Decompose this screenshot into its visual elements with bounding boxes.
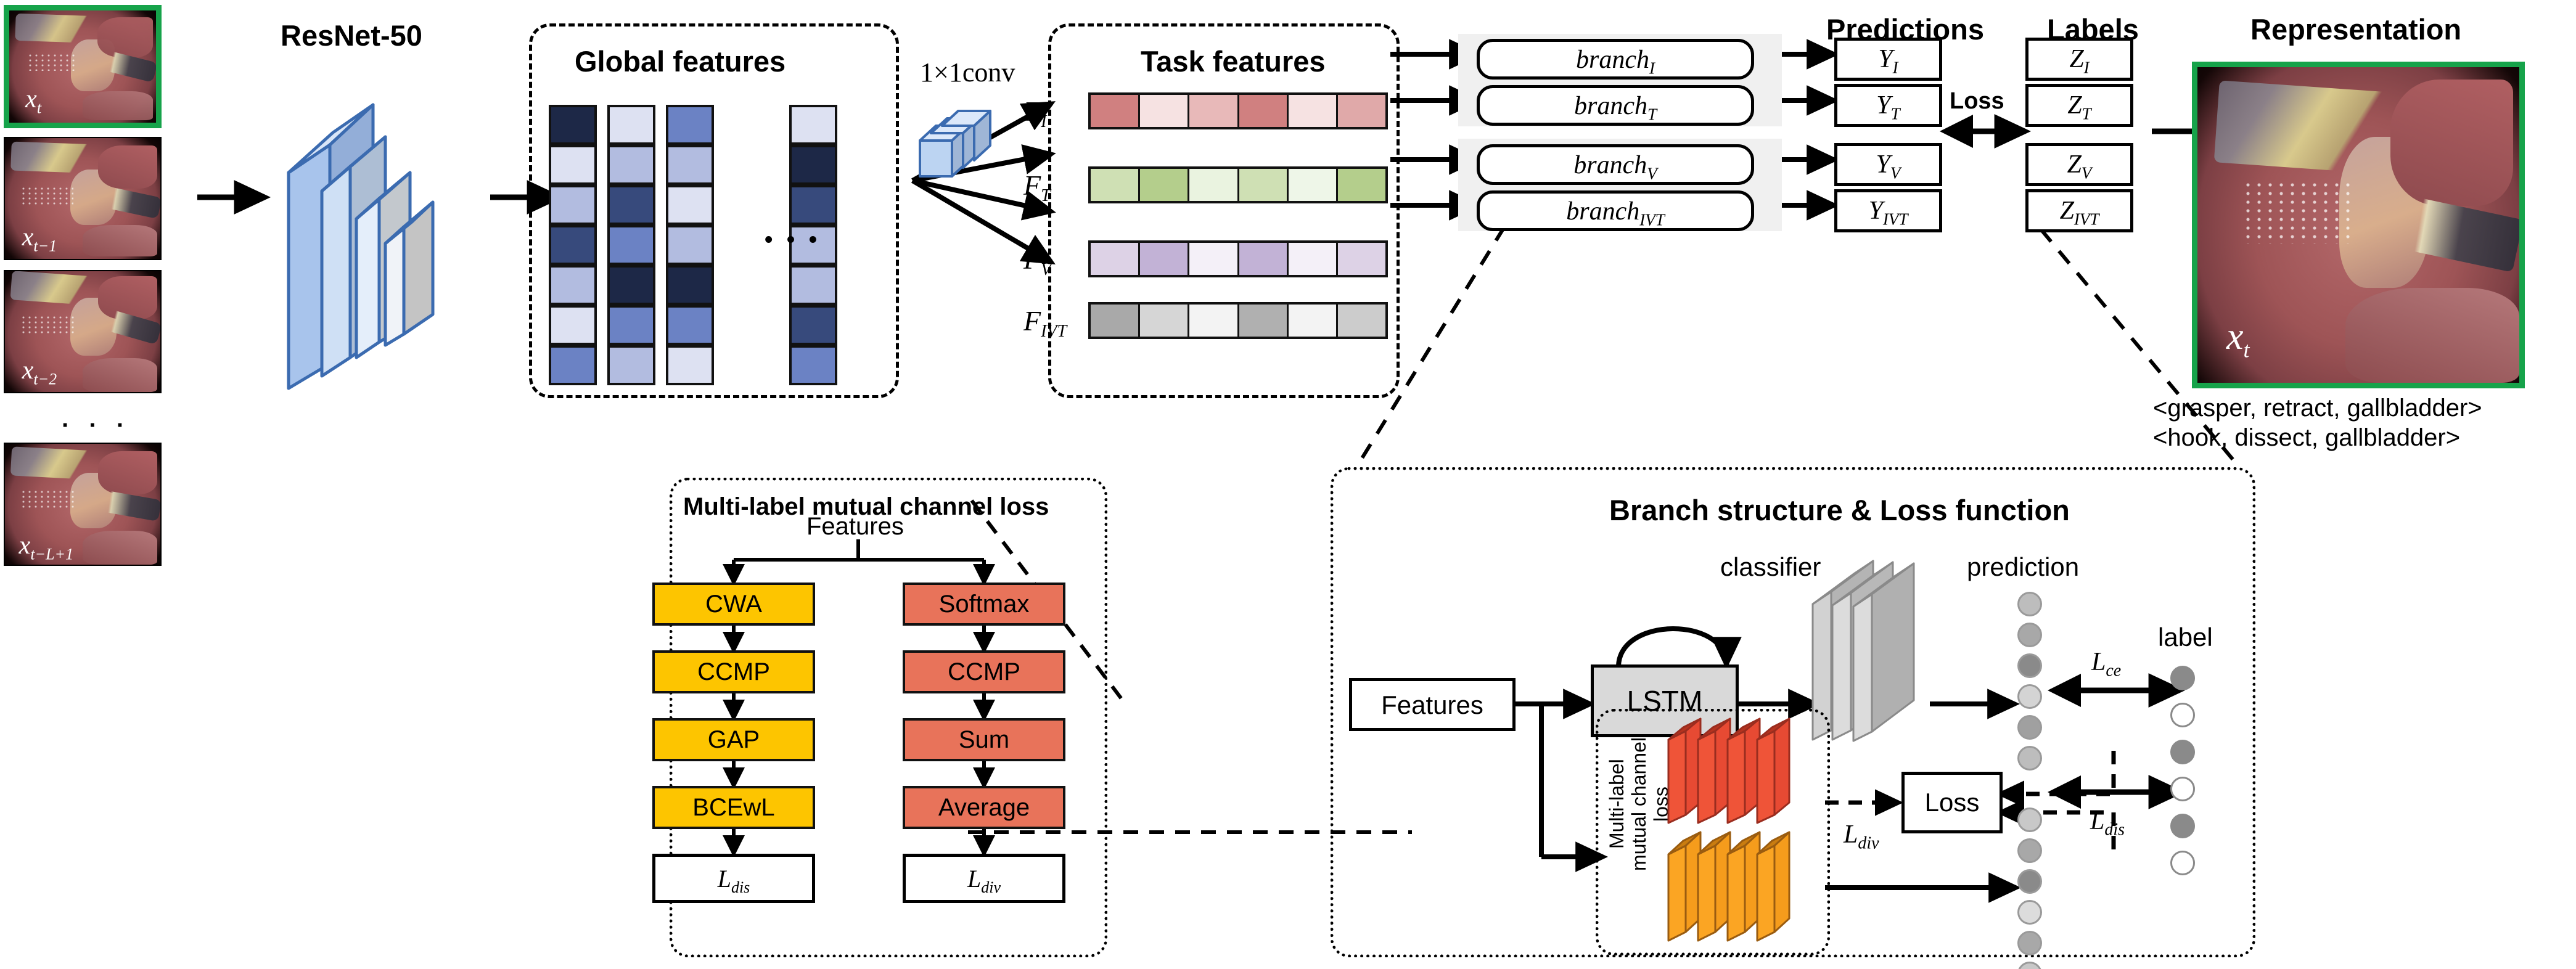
branch-box-v[interactable]: branchV	[1477, 144, 1754, 185]
mmc-inner-label: Multi-label mutual channel loss	[1606, 737, 1672, 871]
task-feature-cell	[1338, 169, 1385, 201]
global-feature-cell	[789, 305, 837, 345]
task-feature-label: FT	[1023, 169, 1051, 206]
branch-loss-label: Loss	[1905, 775, 2000, 830]
label-box-sub: IVT	[2074, 210, 2099, 228]
frame-label-sub: t	[37, 99, 41, 117]
task-feature-cell	[1189, 95, 1239, 127]
prediction-dot	[2017, 869, 2042, 894]
task-feature-cell	[1289, 243, 1338, 275]
global-features-title: Global features	[575, 44, 786, 78]
mmc-left-step-label: CCMP	[655, 653, 813, 691]
mmc-right-output-sub: div	[981, 878, 1001, 896]
frame-label-sub: t−L+1	[30, 545, 73, 563]
global-feature-cell	[607, 105, 655, 145]
label-dot	[2170, 851, 2195, 875]
global-feature-cell	[666, 185, 714, 225]
global-features-grid	[549, 105, 882, 388]
mmc-left-step: BCEwL	[652, 786, 815, 829]
global-feature-cell	[549, 145, 597, 185]
mmc-left-step-label: BCEwL	[655, 788, 813, 827]
mmc-right-chain: SoftmaxCCMPSumAverage	[903, 583, 1065, 891]
mmc-right-output-box: Ldiv	[903, 854, 1065, 903]
prediction-dot	[2017, 808, 2042, 832]
task-feature-cell	[1239, 95, 1289, 127]
frame-label-sym: x	[22, 356, 34, 385]
global-feature-cell	[607, 265, 655, 305]
global-feature-cell	[607, 185, 655, 225]
branch-box-ivt[interactable]: branchIVT	[1477, 190, 1754, 231]
l-div-sym: L	[1844, 820, 1858, 849]
branch-sub: V	[1647, 164, 1657, 182]
task-feature-cell	[1289, 305, 1338, 337]
label-dot	[2170, 703, 2195, 727]
global-feature-cell	[549, 105, 597, 145]
representation-frame: xt	[2192, 62, 2525, 388]
orange-feature-stack-icon	[1665, 826, 1837, 949]
conv-label-b: 1conv	[949, 57, 1015, 88]
prediction-box-i: YI	[1834, 38, 1942, 81]
global-feature-cell	[666, 265, 714, 305]
prediction-dot	[2017, 653, 2042, 678]
task-feature-sym: F	[1023, 96, 1041, 127]
prediction-box-t: YT	[1834, 84, 1942, 127]
label-box-sub: I	[2084, 58, 2090, 76]
global-feature-cell	[789, 105, 837, 145]
prediction-dot	[2017, 838, 2042, 863]
task-feature-cell	[1140, 169, 1189, 201]
mmc-right-step: Average	[903, 786, 1065, 829]
task-feature-cell	[1140, 305, 1189, 337]
mmc-left-output-box: Ldis	[652, 854, 815, 903]
task-feature-sym: F	[1023, 305, 1041, 337]
mmc-right-step-label: Softmax	[905, 585, 1063, 623]
loss-arrow-label: Loss	[1950, 88, 2004, 115]
task-feature-cell	[1338, 243, 1385, 275]
task-feature-cell	[1091, 305, 1140, 337]
input-frame-xt: xt	[4, 5, 162, 128]
global-feature-cell	[789, 265, 837, 305]
label-box-sym: Z	[2060, 197, 2074, 225]
task-features-title: Task features	[1141, 44, 1326, 78]
label-dots	[2170, 666, 2197, 888]
task-feature-cell	[1239, 243, 1289, 275]
frame-label-sym: x	[25, 85, 37, 113]
branch-sub: I	[1649, 59, 1655, 77]
global-feature-cell	[666, 345, 714, 385]
input-frames-ellipsis: · · ·	[62, 412, 131, 440]
mmc-left-step-label: CWA	[655, 585, 813, 623]
input-frame-xt-L1: xt−L+1	[4, 443, 162, 566]
mmc-left-output-sub: dis	[731, 878, 750, 896]
task-feature-cell	[1239, 169, 1289, 201]
prediction-dot	[2017, 623, 2042, 647]
global-feature-cell	[666, 105, 714, 145]
label-box-sym: Z	[2069, 45, 2083, 73]
task-feature-sym: F	[1023, 170, 1041, 201]
mmc-left-step-label: GAP	[655, 721, 813, 759]
representation-frame-label-sub: t	[2244, 337, 2250, 362]
prediction-dot	[2017, 746, 2042, 771]
prediction-box-sub: IVT	[1883, 210, 1908, 228]
global-feature-cell	[607, 305, 655, 345]
branch-sym: branch	[1573, 151, 1647, 179]
label-dot	[2170, 777, 2195, 801]
mmc-right-step-label: CCMP	[905, 653, 1063, 691]
red-feature-stack-icon	[1665, 715, 1837, 832]
task-feature-cell	[1140, 243, 1189, 275]
prediction-box-sub: V	[1890, 163, 1901, 182]
branch-sub: T	[1647, 105, 1657, 123]
global-feature-cell	[549, 185, 597, 225]
label-dot	[2170, 814, 2195, 838]
global-feature-cell	[666, 145, 714, 185]
prediction-dot	[2017, 715, 2042, 740]
label-dot	[2170, 666, 2195, 690]
global-feature-cell	[549, 305, 597, 345]
conv-times-icon: ×	[933, 57, 949, 88]
backbone-title: ResNet-50	[281, 18, 422, 52]
label-box-v: ZV	[2025, 143, 2133, 186]
global-features-ellipsis: • • •	[765, 227, 821, 253]
figure-canvas: xt xt−1 xt−2 · · ·	[0, 0, 2576, 969]
task-feature-label: FI	[1023, 95, 1046, 132]
label-box-sub: V	[2082, 163, 2092, 182]
task-feature-cell	[1239, 305, 1289, 337]
task-feature-cell	[1091, 243, 1140, 275]
task-feature-label: FV	[1023, 243, 1051, 280]
l-ce-sub: ce	[2106, 661, 2121, 680]
task-feature-sub: V	[1041, 260, 1051, 279]
branch-box-i[interactable]: branchI	[1477, 39, 1754, 80]
global-feature-cell	[666, 225, 714, 265]
l-dis-sub: dis	[2104, 820, 2125, 839]
task-feature-sub: I	[1041, 112, 1046, 131]
representation-frame-label-sym: x	[2226, 316, 2244, 358]
task-feature-row	[1088, 302, 1388, 339]
prediction-box-sym: Y	[1876, 91, 1890, 120]
task-feature-cell	[1289, 169, 1338, 201]
prediction-box-sub: T	[1891, 104, 1900, 123]
branch-sym: branch	[1574, 92, 1647, 120]
prediction-dot	[2017, 900, 2042, 925]
global-feature-cell	[549, 265, 597, 305]
prediction-dot	[2017, 931, 2042, 955]
task-features-rows: FIFTFVFIVT	[1073, 92, 1393, 351]
mmc-right-output-sym: L	[967, 865, 981, 893]
task-feature-cell	[1091, 169, 1140, 201]
branch-sub: IVT	[1639, 210, 1665, 229]
mmc-left-chain: CWACCMPGAPBCEwL	[652, 583, 815, 891]
predictions-column: YIYTYVYIVT	[1834, 34, 1945, 237]
global-feature-cell	[666, 305, 714, 345]
branch-boxes: branchIbranchTbranchVbranchIVT	[1477, 34, 1760, 237]
prediction-dot	[2017, 592, 2042, 616]
task-feature-label: FIVT	[1023, 305, 1067, 341]
task-feature-sym: F	[1023, 243, 1041, 275]
frame-label-sym: x	[22, 223, 34, 251]
mmc-inner-label-l2: mutual channel	[1628, 737, 1650, 871]
mmc-right-step: CCMP	[903, 650, 1065, 693]
prediction-label: prediction	[1967, 552, 2079, 582]
global-feature-cell	[789, 145, 837, 185]
l-div-sub: div	[1858, 833, 1879, 852]
label-box-t: ZT	[2025, 84, 2133, 127]
task-feature-cell	[1091, 95, 1140, 127]
conv-label-a: 1	[920, 57, 933, 88]
global-feature-cell	[549, 345, 597, 385]
branch-box-t[interactable]: branchT	[1477, 85, 1754, 126]
frame-label-sub: t−2	[33, 370, 57, 388]
prediction-box-ivt: YIVT	[1834, 189, 1942, 232]
conv-cube-icon	[917, 110, 1004, 184]
prediction-dot	[2017, 684, 2042, 709]
label-box-i: ZI	[2025, 38, 2133, 81]
branch-panel-title: Branch structure & Loss function	[1609, 493, 2070, 527]
branch-features-box: Features	[1349, 678, 1516, 731]
input-frame-xt-2: xt−2	[4, 270, 162, 393]
mmc-left-step: CCMP	[652, 650, 815, 693]
prediction-box-v: YV	[1834, 143, 1942, 186]
prediction-box-sym: Y	[1878, 45, 1892, 73]
label-box-sub: T	[2082, 104, 2091, 123]
global-feature-cell	[789, 345, 837, 385]
label-box-sym: Z	[2067, 150, 2082, 179]
input-frame-xt-1: xt−1	[4, 137, 162, 260]
labels-column: ZIZTZVZIVT	[2025, 34, 2136, 237]
task-feature-cell	[1189, 243, 1239, 275]
l-dis-sym: L	[2090, 807, 2104, 835]
task-feature-cell	[1338, 305, 1385, 337]
mmc-features-label: Features	[806, 513, 904, 541]
prediction-dot	[2017, 962, 2042, 969]
representation-title: Representation	[2250, 12, 2461, 46]
prediction-dots-bottom	[2017, 808, 2045, 968]
mmc-inner-label-l1: Multi-label	[1606, 759, 1628, 849]
l-dis-label: Ldis	[2090, 806, 2125, 840]
branch-features-label: Features	[1352, 681, 1512, 729]
task-feature-row	[1088, 240, 1388, 277]
global-feature-cell	[607, 345, 655, 385]
mmc-left-step: GAP	[652, 718, 815, 761]
prediction-box-sym: Y	[1876, 150, 1890, 179]
label-box-ivt: ZIVT	[2025, 189, 2133, 232]
branch-sym: branch	[1566, 197, 1639, 226]
task-feature-cell	[1189, 169, 1239, 201]
task-feature-sub: T	[1041, 186, 1051, 205]
label-box-sym: Z	[2067, 91, 2082, 120]
task-feature-cell	[1189, 305, 1239, 337]
frame-label-sym: x	[19, 531, 31, 560]
prediction-dots-top	[2017, 592, 2045, 752]
triplet-line-1: <grasper, retract, gallbladder>	[2153, 395, 2482, 422]
l-div-label: Ldiv	[1844, 820, 1879, 853]
mmc-right-step-label: Sum	[905, 721, 1063, 759]
resnet-layers	[259, 68, 506, 413]
branch-sym: branch	[1576, 46, 1649, 74]
task-feature-sub: IVT	[1041, 322, 1067, 341]
prediction-box-sym: Y	[1869, 197, 1883, 225]
mmc-right-step: Softmax	[903, 583, 1065, 626]
branch-loss-box: Loss	[1901, 772, 2003, 833]
global-feature-cell	[607, 225, 655, 265]
conv-label: 1×1conv	[920, 57, 1015, 88]
mmc-left-step: CWA	[652, 583, 815, 626]
label-dot	[2170, 740, 2195, 764]
task-feature-row	[1088, 166, 1388, 203]
mmc-right-step-label: Average	[905, 788, 1063, 827]
task-feature-cell	[1338, 95, 1385, 127]
l-ce-label: Lce	[2091, 647, 2121, 681]
task-feature-cell	[1289, 95, 1338, 127]
task-feature-cell	[1140, 95, 1189, 127]
label-dots-label: label	[2158, 623, 2213, 652]
mmc-left-output-sym: L	[718, 865, 731, 893]
global-feature-cell	[789, 185, 837, 225]
task-feature-row	[1088, 92, 1388, 129]
global-feature-cell	[549, 225, 597, 265]
mmc-right-step: Sum	[903, 718, 1065, 761]
l-ce-sym: L	[2091, 648, 2106, 676]
classifier-label: classifier	[1720, 552, 1821, 582]
frame-label-sub: t−1	[33, 237, 57, 255]
triplet-line-2: <hook, dissect, gallbladder>	[2153, 424, 2460, 452]
prediction-box-sub: I	[1893, 58, 1898, 76]
global-feature-cell	[607, 145, 655, 185]
